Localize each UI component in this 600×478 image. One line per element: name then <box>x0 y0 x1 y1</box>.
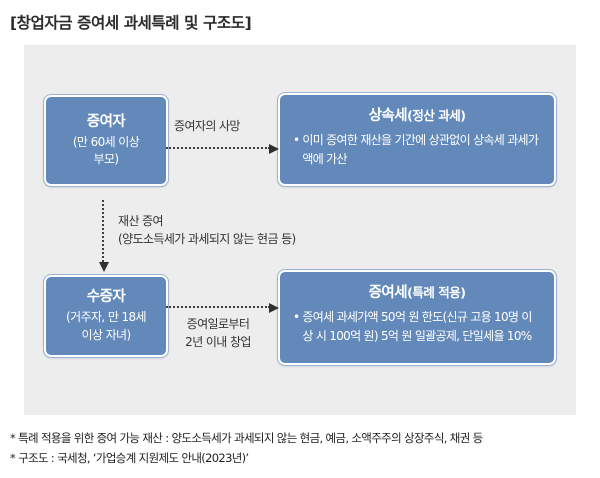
node-gift-tax: 증여세(특례 적용) • 증여세 과세가액 50억 원 한도(신규 고용 10명… <box>278 270 556 365</box>
node-donee-title: 수증자 <box>87 288 126 306</box>
bullet-dot-icon: • <box>293 131 299 168</box>
node-donee-subtitle-line1: (거주자, 만 18세 <box>66 309 146 326</box>
page-title: [창업자금 증여세 과세특례 및 구조도] <box>10 11 251 33</box>
node-inheritance-tax: 상속세(정산 과세) • 이미 증여한 재산을 기간에 상관없이 상속세 과세가… <box>278 93 556 186</box>
arrow-startup-label-line2: 2년 이내 창업 <box>168 333 268 351</box>
arrow-death-dotted-icon <box>166 147 270 151</box>
node-gift-tax-subtitle: (특례 적용) <box>407 285 465 300</box>
node-donee-subtitle-line2: 이상 자녀) <box>81 327 130 344</box>
arrow-startup-label-line1: 증여일로부터 <box>168 315 268 333</box>
footnotes: * 특례 적용을 위한 증여 가능 재산 : 양도소득세가 과세되지 않는 현금… <box>10 428 594 468</box>
arrow-gift-dotted-icon <box>102 200 106 262</box>
node-inheritance-tax-subtitle: (정산 과세) <box>407 108 465 123</box>
node-donor: 증여자 (만 60세 이상 부모) <box>44 95 168 186</box>
footnote-item: * 구조도 : 국세청, ‘가업승계 지원제도 안내(2023년)’ <box>10 448 594 468</box>
arrow-gift-label-line2: (양도소득세가 과세되지 않는 현금 등) <box>118 230 296 248</box>
footnote-item: * 특례 적용을 위한 증여 가능 재산 : 양도소득세가 과세되지 않는 현금… <box>10 428 594 448</box>
diagram-panel: 증여자 (만 60세 이상 부모) 상속세(정산 과세) • 이미 증여한 재산… <box>24 45 576 415</box>
arrow-gift-label-line1: 재산 증여 <box>118 212 296 230</box>
node-gift-tax-heading: 증여세(특례 적용) <box>293 281 541 302</box>
node-inheritance-tax-bullet-text: 이미 증여한 재산을 기간에 상관없이 상속세 과세가액에 가산 <box>302 131 541 168</box>
node-inheritance-tax-bullet-item: • 이미 증여한 재산을 기간에 상관없이 상속세 과세가액에 가산 <box>293 131 541 168</box>
node-inheritance-tax-title: 상속세 <box>369 108 408 124</box>
arrow-startup-label: 증여일로부터 2년 이내 창업 <box>168 315 268 351</box>
node-donor-subtitle-line1: (만 60세 이상 <box>73 134 139 151</box>
arrow-gift-label: 재산 증여 (양도소득세가 과세되지 않는 현금 등) <box>118 212 296 248</box>
node-donor-title: 증여자 <box>87 113 126 131</box>
node-donor-subtitle-line2: 부모) <box>94 151 119 168</box>
node-gift-tax-bullet-text: 증여세 과세가액 50억 원 한도(신규 고용 10명 이상 시 100억 원)… <box>302 308 541 345</box>
node-gift-tax-bullet-item: • 증여세 과세가액 50억 원 한도(신규 고용 10명 이상 시 100억 … <box>293 308 541 345</box>
node-gift-tax-title: 증여세 <box>369 285 408 301</box>
node-inheritance-tax-heading: 상속세(정산 과세) <box>293 104 541 125</box>
arrow-startup-dotted-icon <box>166 306 270 310</box>
arrow-death-label: 증여자의 사망 <box>174 117 240 135</box>
node-donee: 수증자 (거주자, 만 18세 이상 자녀) <box>44 275 168 357</box>
bullet-dot-icon: • <box>293 308 299 345</box>
